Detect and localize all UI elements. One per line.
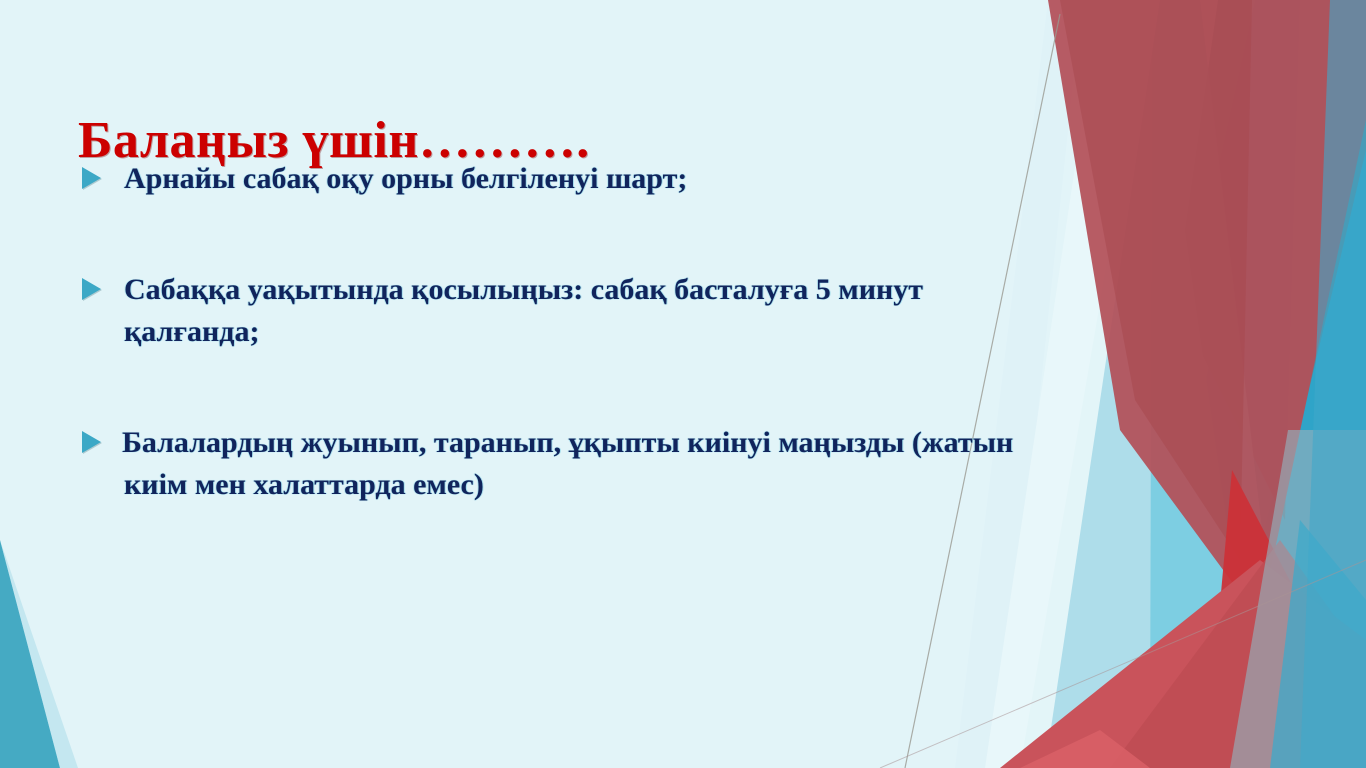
- list-item-label: Сабаққа уақытында қосылыңыз: сабақ баста…: [124, 273, 923, 349]
- triangle-right-icon: [82, 278, 101, 300]
- sky-blue-triangle: [1150, 0, 1290, 768]
- red-sweep-band: [1000, 560, 1366, 768]
- list-item-label: Балалардың жуынып, таранып, ұқыпты киіну…: [122, 426, 1013, 502]
- list-item: Арнайы сабақ оқу орны белгіленуі шарт;: [78, 158, 1038, 201]
- red-sweep-band-shade: [1110, 540, 1366, 768]
- triangle-right-icon: [82, 167, 101, 189]
- maroon-wedge-shade: [1060, 0, 1252, 560]
- slide-content: Балаңыз үшін………. Арнайы сабақ оқу орны б…: [0, 0, 1050, 768]
- bright-red-triangle: [1215, 470, 1300, 660]
- gray-blue-veil: [1230, 430, 1366, 768]
- bullet-list: Арнайы сабақ оқу орны белгіленуі шарт; С…: [78, 158, 1038, 507]
- triangle-right-icon: [82, 431, 101, 453]
- list-item: Балалардың жуынып, таранып, ұқыпты киіну…: [78, 422, 1038, 507]
- slate-blue-wedge-inner: [1175, 0, 1300, 520]
- light-blue-triangle: [1020, 0, 1262, 768]
- teal-veil-lower: [1270, 520, 1366, 768]
- list-item: Сабаққа уақытында қосылыңыз: сабақ баста…: [78, 269, 1038, 354]
- list-item-label: Арнайы сабақ оқу орны белгіленуі шарт;: [124, 162, 687, 195]
- right-teal-band-1: [1120, 0, 1366, 768]
- right-teal-band-2: [1205, 120, 1366, 768]
- maroon-wedge-main: [1048, 0, 1366, 620]
- presentation-slide: Балаңыз үшін………. Арнайы сабақ оқу орны б…: [0, 0, 1366, 768]
- right-edge-teal: [1300, 0, 1366, 768]
- slate-blue-wedge: [1200, 0, 1366, 470]
